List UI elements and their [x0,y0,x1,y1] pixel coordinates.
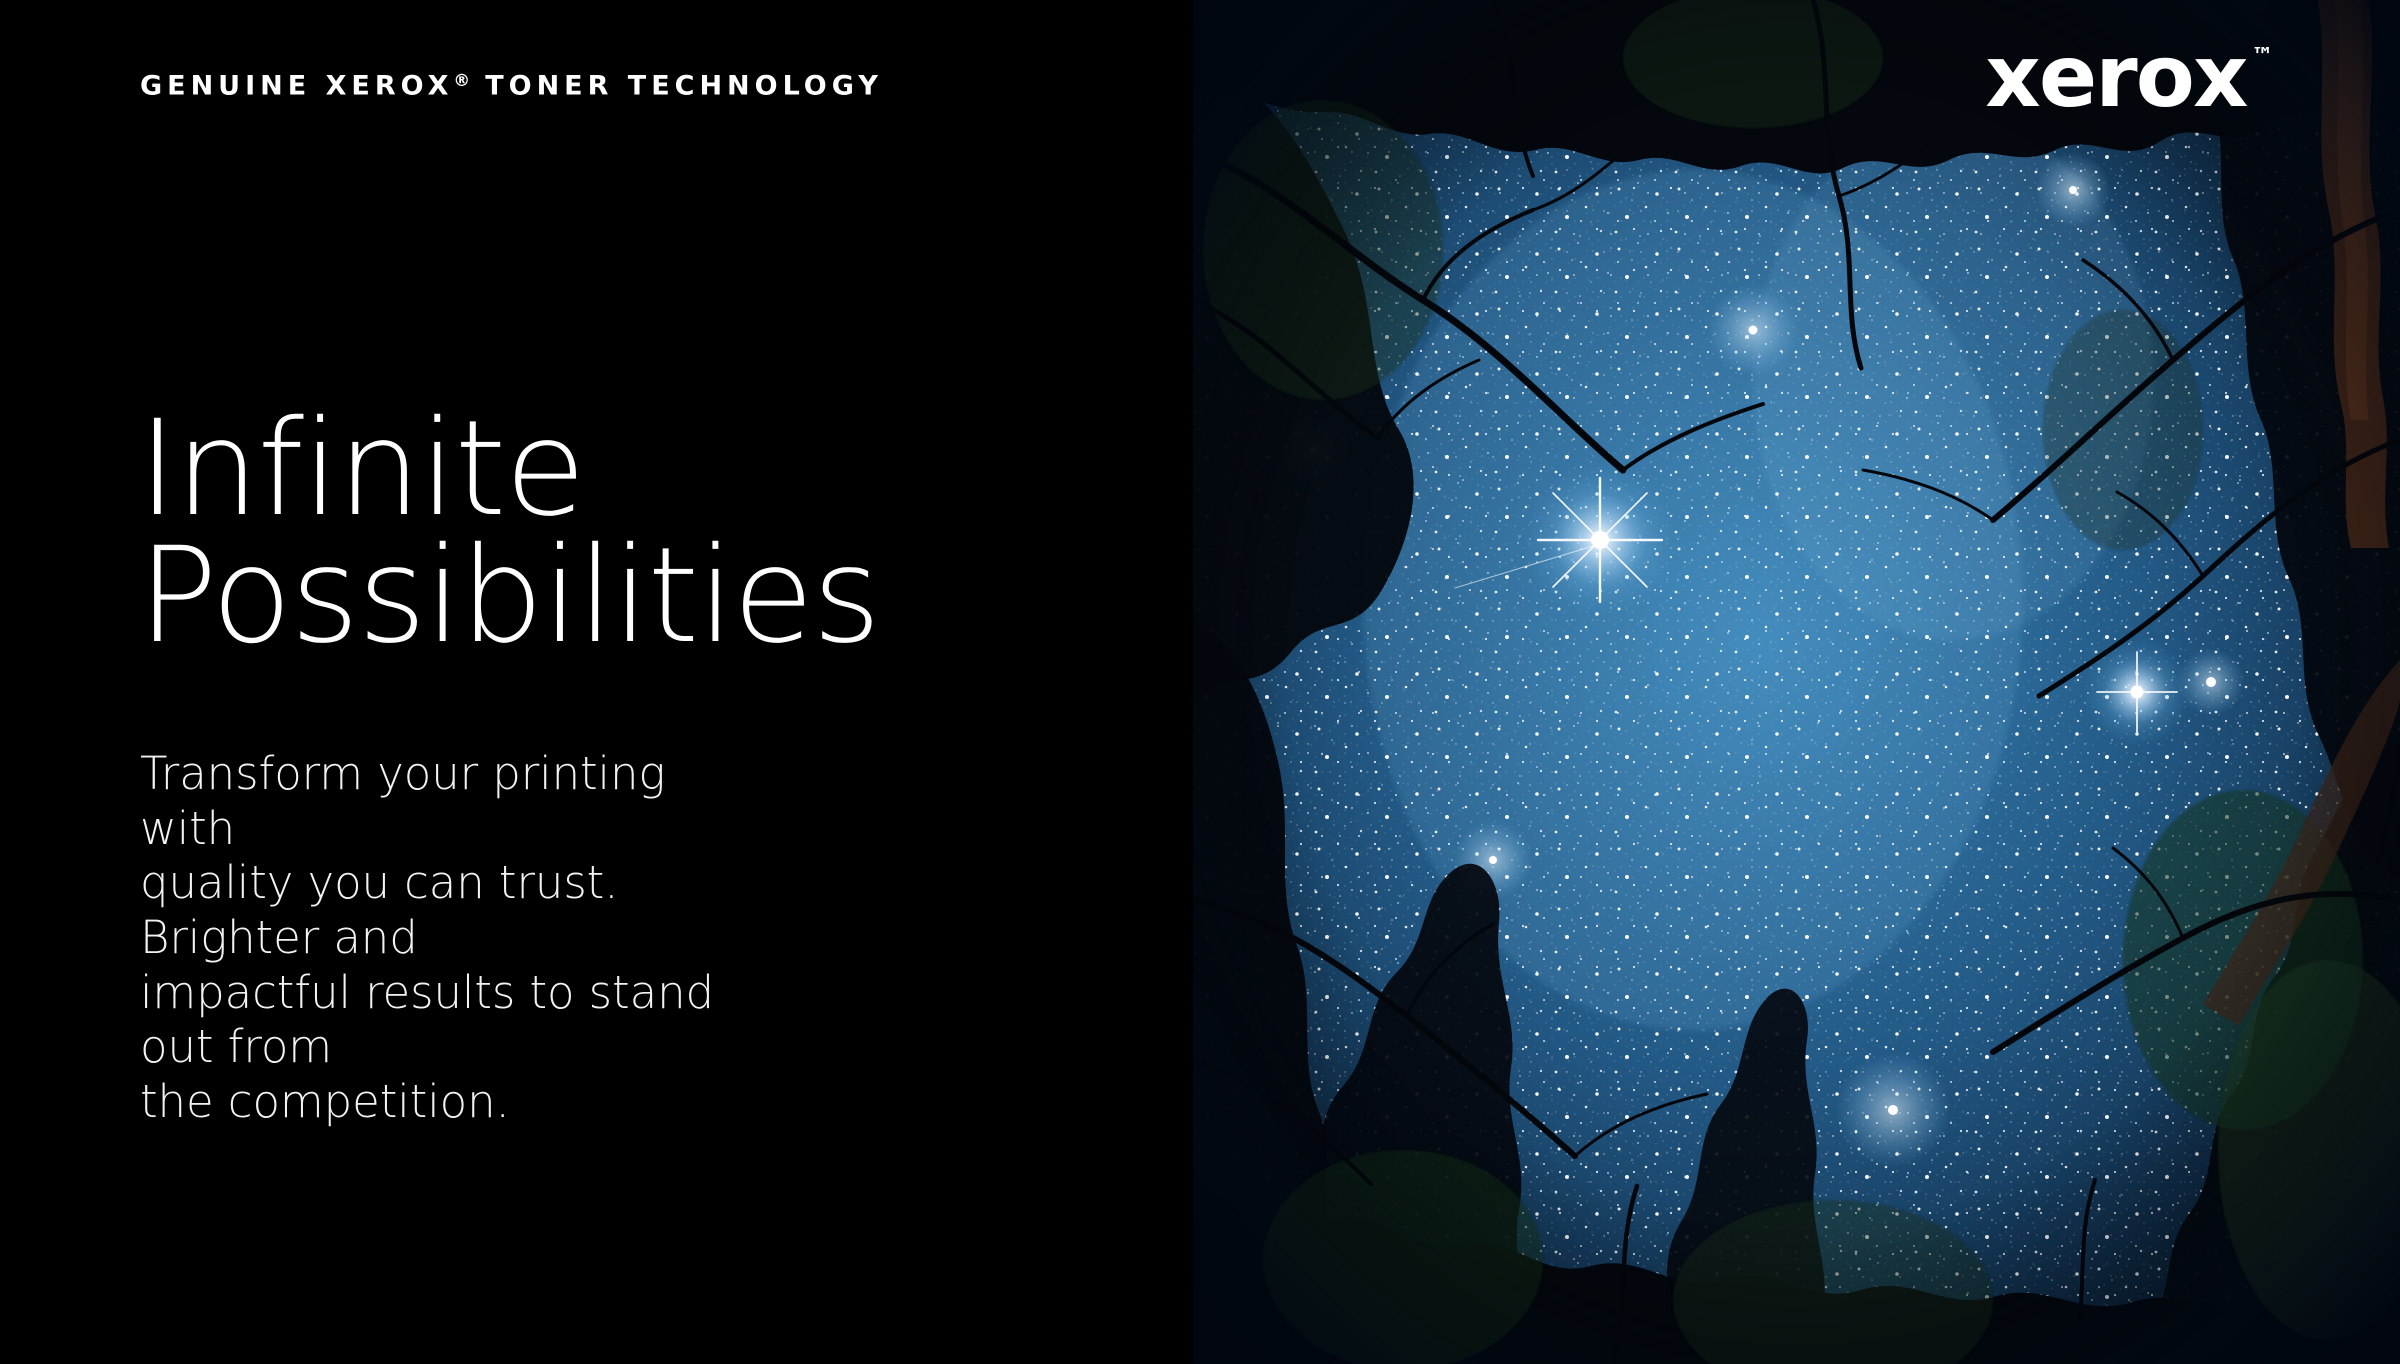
body-line-1: Transform your printing with [140,747,760,856]
trademark-icon: ™ [2252,46,2274,68]
eyebrow-kicker: GENUINE XEROX® TONER TECHNOLOGY [140,72,883,100]
eyebrow-text-before: GENUINE XEROX [140,71,453,102]
left-text-panel: GENUINE XEROX® TONER TECHNOLOGY Infinite… [0,0,1193,1364]
night-sky-forest-photo [1193,0,2400,1364]
page-title: Infinite Possibilities [138,406,1138,659]
poster: GENUINE XEROX® TONER TECHNOLOGY Infinite… [0,0,2400,1364]
registered-trademark-icon: ® [453,70,470,90]
headline-line-2: Possibilities [138,533,1138,660]
xerox-logo: xerox ™ [1985,34,2274,120]
body-line-4: the competition. [140,1075,760,1130]
headline-line-1: Infinite [138,406,1138,533]
body-line-3: impactful results to stand out from [140,966,760,1075]
eyebrow-text-after: TONER TECHNOLOGY [471,71,883,102]
xerox-wordmark: xerox [1985,34,2246,120]
body-line-2: quality you can trust. Brighter and [140,856,760,965]
photo-vignette [1193,0,2400,1364]
body-copy: Transform your printing with quality you… [140,747,760,1130]
night-sky-illustration [1193,0,2400,1364]
